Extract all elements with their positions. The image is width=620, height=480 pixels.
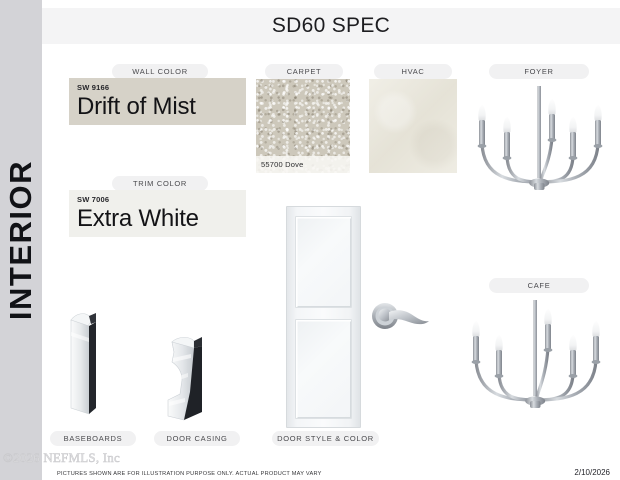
swatch-hvac bbox=[369, 79, 457, 173]
page-title: SD60 SPEC bbox=[272, 14, 390, 38]
copyright-watermark: ©2026 NEFMLS, Inc bbox=[3, 450, 120, 466]
label-pill-door-style: DOOR STYLE & COLOR bbox=[272, 431, 379, 446]
disclaimer-text: PICTURES SHOWN ARE FOR ILLUSTRATION PURP… bbox=[57, 471, 322, 477]
door-style-image bbox=[286, 206, 361, 428]
label-pill-carpet: CARPET bbox=[265, 64, 343, 79]
header-banner: SD60 SPEC bbox=[42, 8, 620, 44]
label-pill-trim-color: TRIM COLOR bbox=[112, 176, 208, 191]
label-pill-cafe: CAFE bbox=[489, 278, 589, 293]
sidebar: INTERIOR bbox=[0, 0, 42, 480]
door-casing-profile-image bbox=[160, 332, 222, 424]
swatch-trim-color: SW 7006 Extra White bbox=[69, 190, 246, 237]
foyer-chandelier-icon bbox=[466, 82, 614, 222]
wall-color-code: SW 9166 bbox=[77, 83, 246, 92]
door-lower-panel bbox=[295, 319, 352, 419]
carpet-caption: 55700 Dove bbox=[256, 156, 350, 173]
label-pill-hvac: HVAC bbox=[374, 64, 452, 79]
label-pill-door-casing: DOOR CASING bbox=[154, 431, 240, 446]
door-upper-panel bbox=[295, 216, 352, 308]
sidebar-label-interior: INTERIOR bbox=[0, 0, 42, 480]
trim-color-name: Extra White bbox=[77, 206, 246, 231]
cafe-chandelier-icon bbox=[458, 296, 614, 436]
door-lever-handle-icon bbox=[369, 295, 431, 337]
label-pill-foyer: FOYER bbox=[489, 64, 589, 79]
trim-color-code: SW 7006 bbox=[77, 195, 246, 204]
wall-color-name: Drift of Mist bbox=[77, 94, 246, 119]
swatch-wall-color: SW 9166 Drift of Mist bbox=[69, 78, 246, 125]
footer-date: 2/10/2026 bbox=[574, 468, 610, 477]
label-pill-wall-color: WALL COLOR bbox=[112, 64, 208, 79]
baseboard-profile-image bbox=[63, 308, 115, 420]
label-pill-baseboards: BASEBOARDS bbox=[50, 431, 136, 446]
swatch-carpet: 55700 Dove bbox=[256, 79, 350, 173]
